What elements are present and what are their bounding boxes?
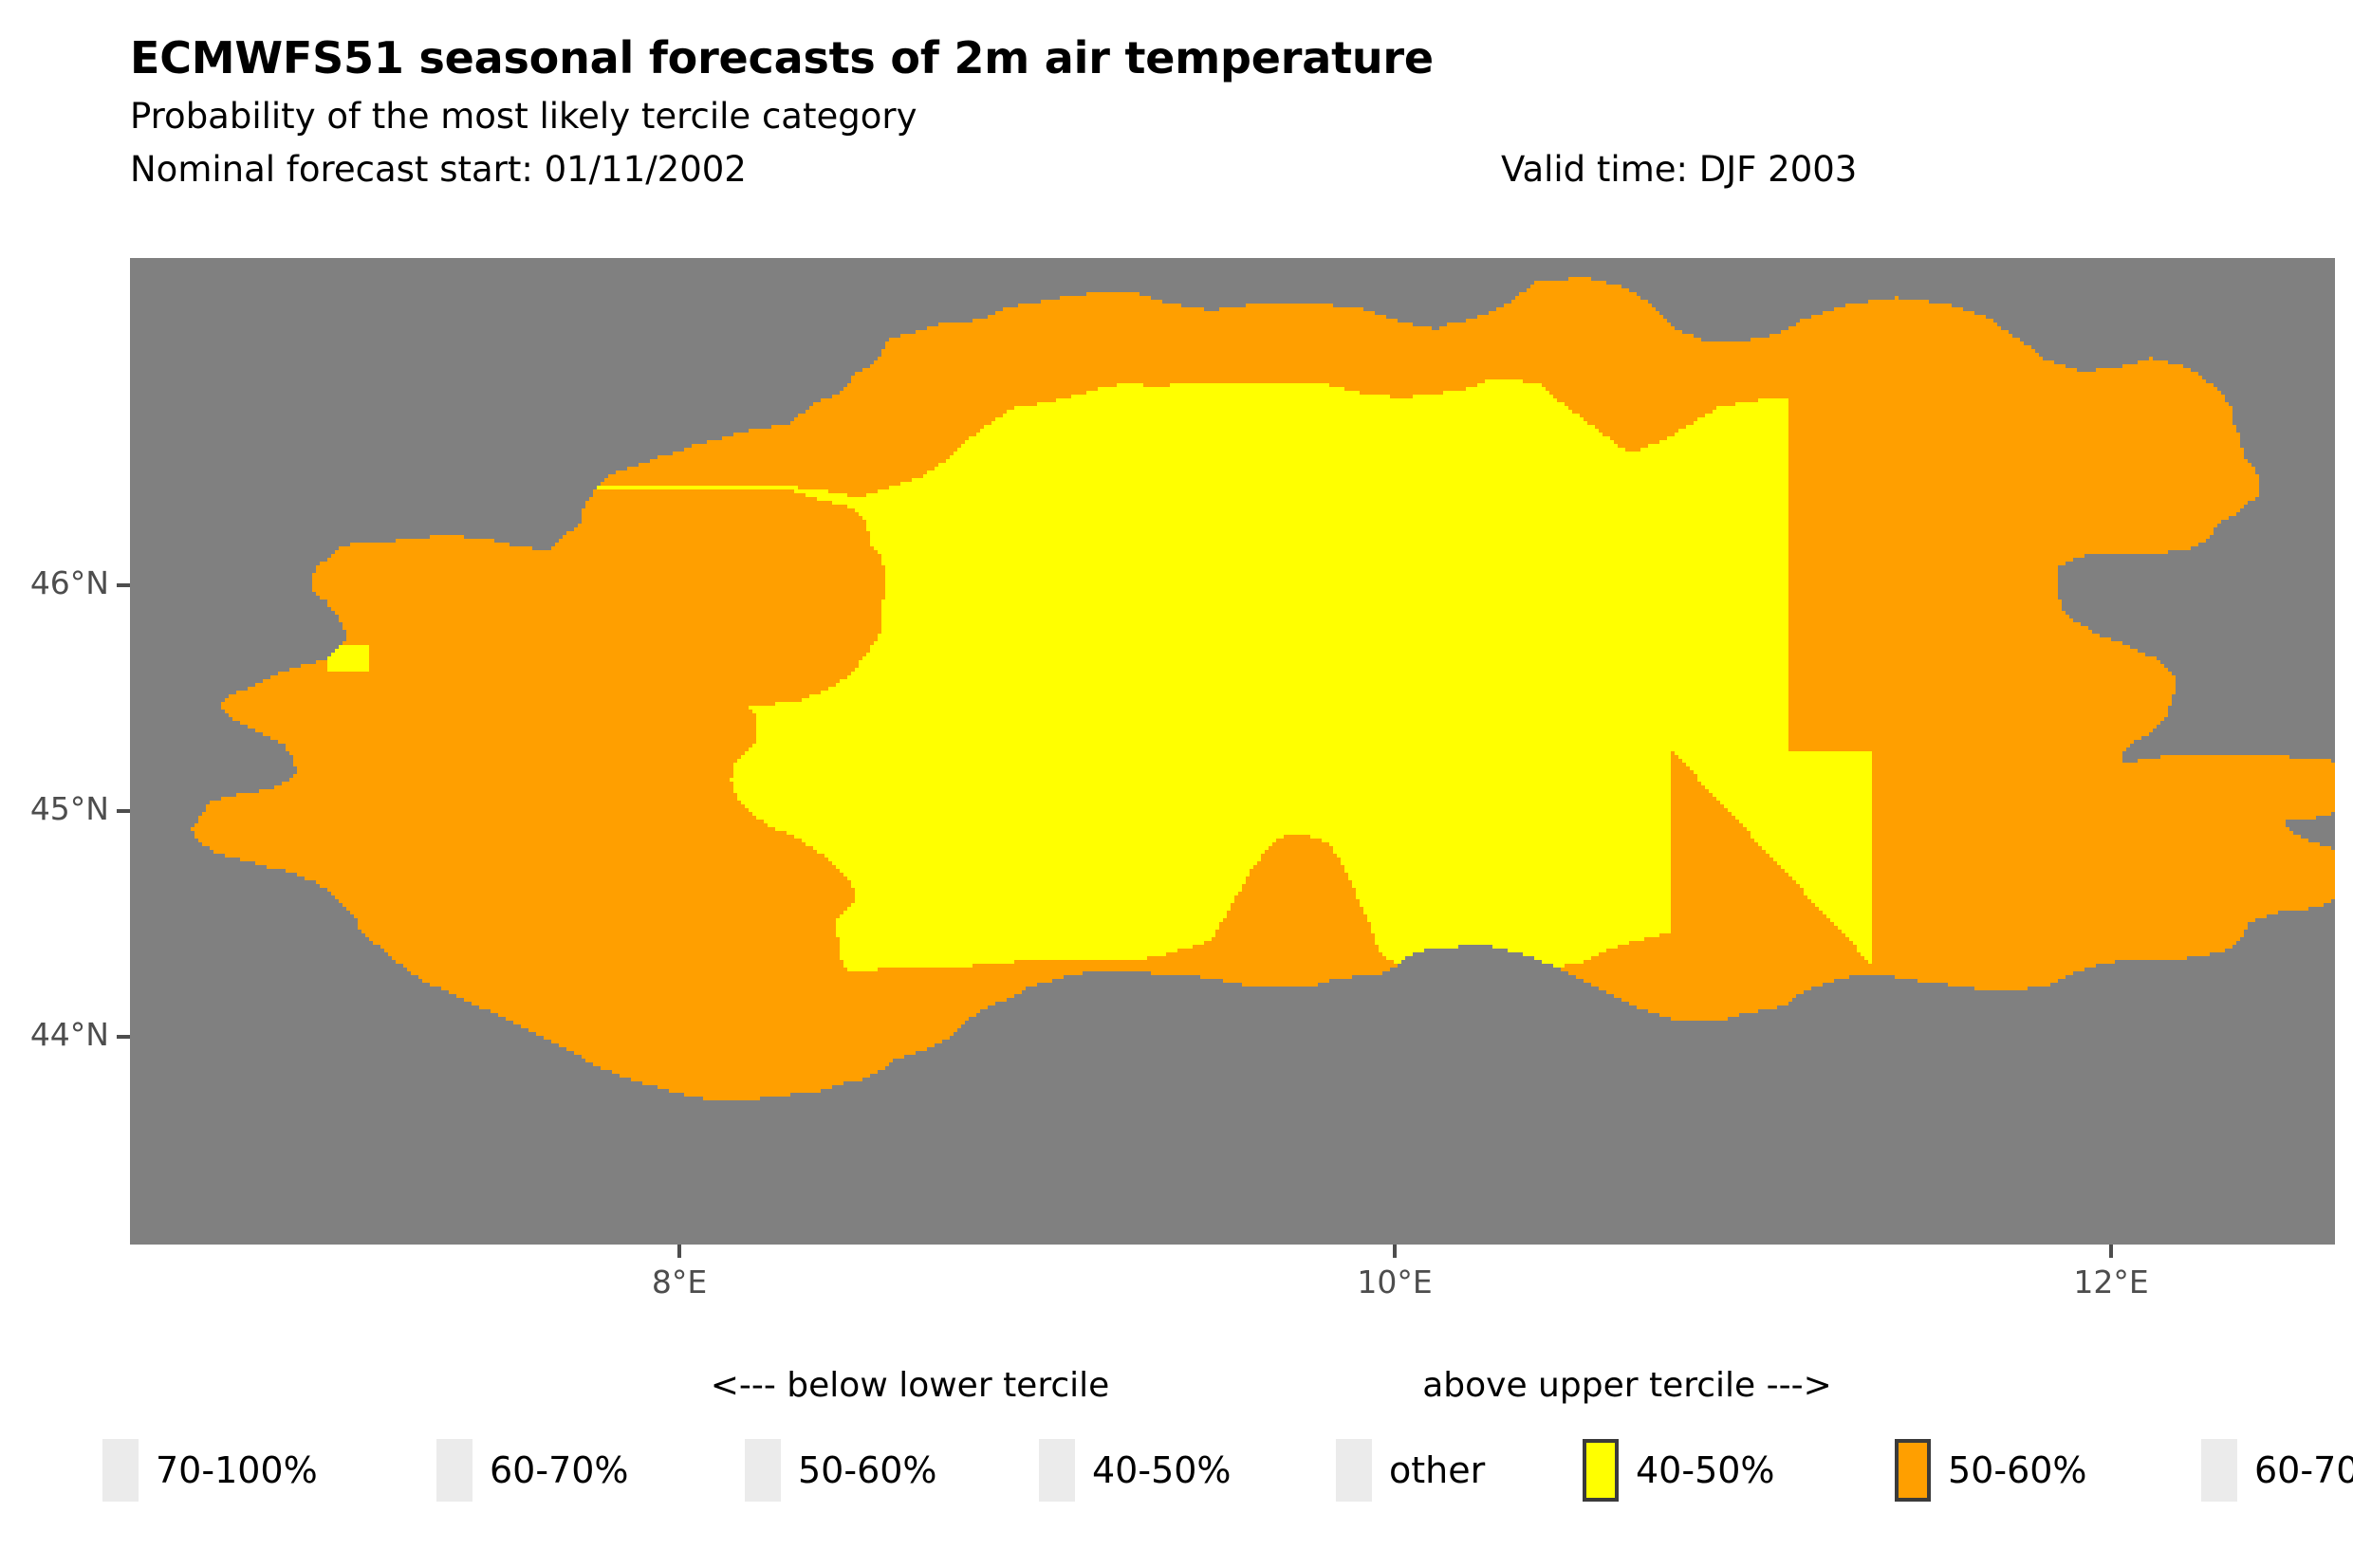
legend-label: other — [1389, 1449, 1485, 1491]
legend-swatch — [1336, 1439, 1372, 1502]
legend-swatch — [745, 1439, 781, 1502]
page-subtitle: Probability of the most likely tercile c… — [130, 99, 2341, 134]
forecast-start-label: Nominal forecast start: 01/11/2002 — [130, 149, 747, 190]
ytick-label: 44°N — [30, 1016, 109, 1053]
legend-swatch — [2201, 1439, 2237, 1502]
valid-time-label: Valid time: DJF 2003 — [1501, 149, 1857, 190]
legend-swatch — [1583, 1439, 1619, 1502]
legend-entry[interactable]: 50-60% — [1895, 1432, 2087, 1508]
legend-below-lower-tercile-label: <--- below lower tercile — [711, 1366, 1110, 1405]
legend-entry[interactable]: 60-70% — [436, 1432, 629, 1508]
legend-entry[interactable]: 40-50% — [1583, 1432, 1775, 1508]
map-plot-area — [130, 258, 2335, 1245]
legend-label: 60-70% — [490, 1449, 629, 1491]
legend-entry[interactable]: 70-100% — [102, 1432, 318, 1508]
legend-row: 70-100%60-70%50-60%40-50%other40-50%50-6… — [0, 1432, 2353, 1508]
legend-label: 50-60% — [1948, 1449, 2087, 1491]
ytick-mark — [117, 809, 130, 813]
xtick-label: 8°E — [652, 1264, 707, 1301]
ytick-label: 45°N — [30, 790, 109, 827]
legend-swatch — [1039, 1439, 1075, 1502]
xtick-mark — [2109, 1245, 2113, 1258]
legend-entry[interactable]: 50-60% — [745, 1432, 937, 1508]
xtick-label: 10°E — [1357, 1264, 1432, 1301]
ytick-mark — [117, 583, 130, 587]
legend-label: 50-60% — [798, 1449, 937, 1491]
legend-entry[interactable]: 40-50% — [1039, 1432, 1232, 1508]
ytick-mark — [117, 1035, 130, 1039]
header-block: ECMWFS51 seasonal forecasts of 2m air te… — [130, 36, 2341, 189]
xtick-label: 12°E — [2073, 1264, 2148, 1301]
page-title: ECMWFS51 seasonal forecasts of 2m air te… — [130, 36, 2341, 80]
tercile-probability-map — [130, 258, 2335, 1245]
ytick-label: 46°N — [30, 564, 109, 601]
xtick-mark — [1393, 1245, 1397, 1258]
legend-entry[interactable]: other — [1336, 1432, 1485, 1508]
legend-swatch — [436, 1439, 472, 1502]
xtick-mark — [677, 1245, 681, 1258]
legend-label: 40-50% — [1636, 1449, 1775, 1491]
legend-entry[interactable]: 60-70% — [2201, 1432, 2353, 1508]
legend-above-upper-tercile-label: above upper tercile ---> — [1422, 1366, 1832, 1405]
legend-swatch — [1895, 1439, 1931, 1502]
legend-label: 60-70% — [2254, 1449, 2353, 1491]
legend-label: 40-50% — [1092, 1449, 1232, 1491]
legend-label: 70-100% — [156, 1449, 318, 1491]
header-meta-row: Nominal forecast start: 01/11/2002 Valid… — [130, 149, 2341, 189]
legend-direction-row: <--- below lower tercile above upper ter… — [0, 1366, 2353, 1410]
legend-swatch — [102, 1439, 139, 1502]
